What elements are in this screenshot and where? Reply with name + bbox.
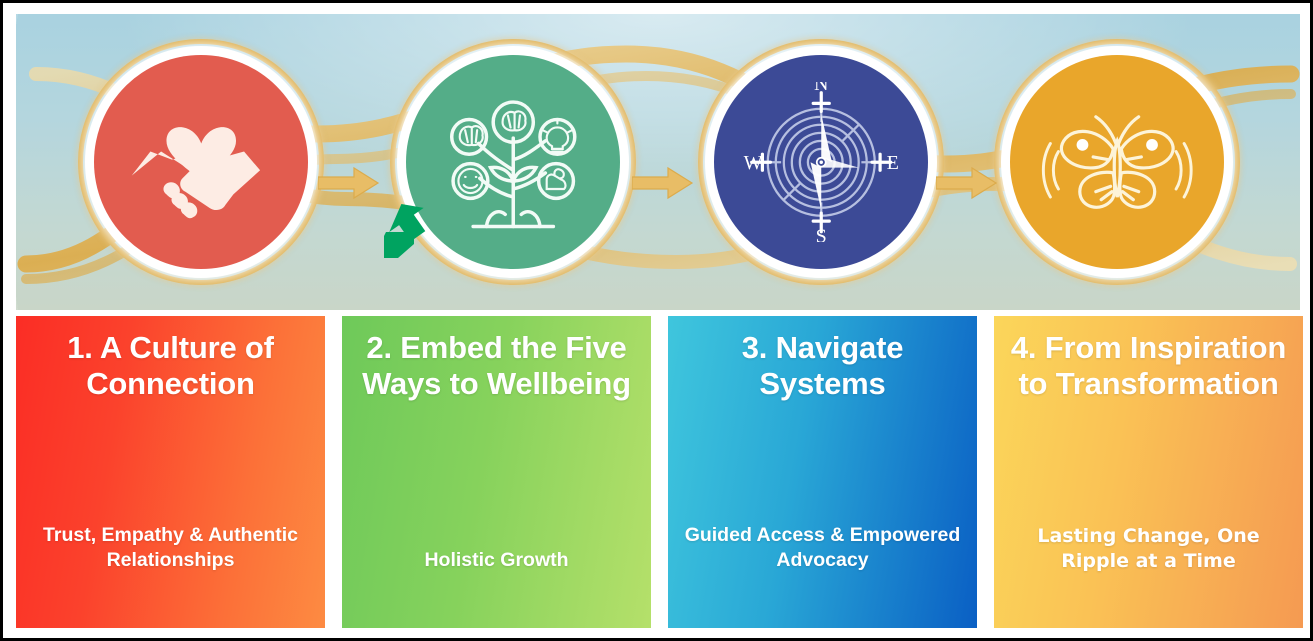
- butterfly-ripple-icon: [1037, 82, 1198, 243]
- growth-tree-five-ways-icon: [433, 82, 594, 243]
- node-inspiration-to-transformation[interactable]: [994, 39, 1240, 285]
- node-navigate-systems[interactable]: N S W E: [698, 39, 944, 285]
- node-disc: [94, 55, 308, 269]
- hero-band: N S W E: [16, 14, 1300, 310]
- handshake-heart-icon: [121, 82, 282, 243]
- arrow-3-to-4: [936, 166, 998, 200]
- card-navigate-systems[interactable]: 3. Navigate Systems Guided Access & Empo…: [668, 316, 977, 628]
- card-inspiration-to-transformation[interactable]: 4. From Inspiration to Transformation La…: [994, 316, 1303, 628]
- arrow-2-to-3: [632, 166, 694, 200]
- pillar-cards: 1. A Culture of Connection Trust, Empath…: [16, 316, 1303, 628]
- node-disc: N S W E: [714, 55, 928, 269]
- card-five-ways-to-wellbeing[interactable]: 2. Embed the Five Ways to Wellbeing Holi…: [342, 316, 651, 628]
- card-title: 2. Embed the Five Ways to Wellbeing: [354, 330, 639, 402]
- compass-label-west: W: [743, 152, 762, 174]
- green-arrow-artifact: [384, 192, 454, 258]
- card-subtitle: Lasting Change, One Ripple at a Time: [1006, 524, 1291, 574]
- card-title: 3. Navigate Systems: [680, 330, 965, 402]
- compass-label-south: S: [815, 225, 826, 242]
- infographic-frame: N S W E: [0, 0, 1313, 641]
- compass-label-east: E: [886, 152, 898, 174]
- arrow-1-to-2: [318, 166, 380, 200]
- compass-labyrinth-icon: N S W E: [741, 82, 902, 243]
- card-culture-of-connection[interactable]: 1. A Culture of Connection Trust, Empath…: [16, 316, 325, 628]
- card-subtitle: Holistic Growth: [424, 548, 568, 574]
- card-subtitle: Guided Access & Empowered Advocacy: [680, 523, 965, 574]
- compass-label-north: N: [814, 82, 829, 95]
- card-title: 1. A Culture of Connection: [28, 330, 313, 402]
- node-culture-of-connection[interactable]: [78, 39, 324, 285]
- card-title: 4. From Inspiration to Transformation: [1006, 330, 1291, 402]
- node-disc: [1010, 55, 1224, 269]
- card-subtitle: Trust, Empathy & Authentic Relationships: [28, 523, 313, 574]
